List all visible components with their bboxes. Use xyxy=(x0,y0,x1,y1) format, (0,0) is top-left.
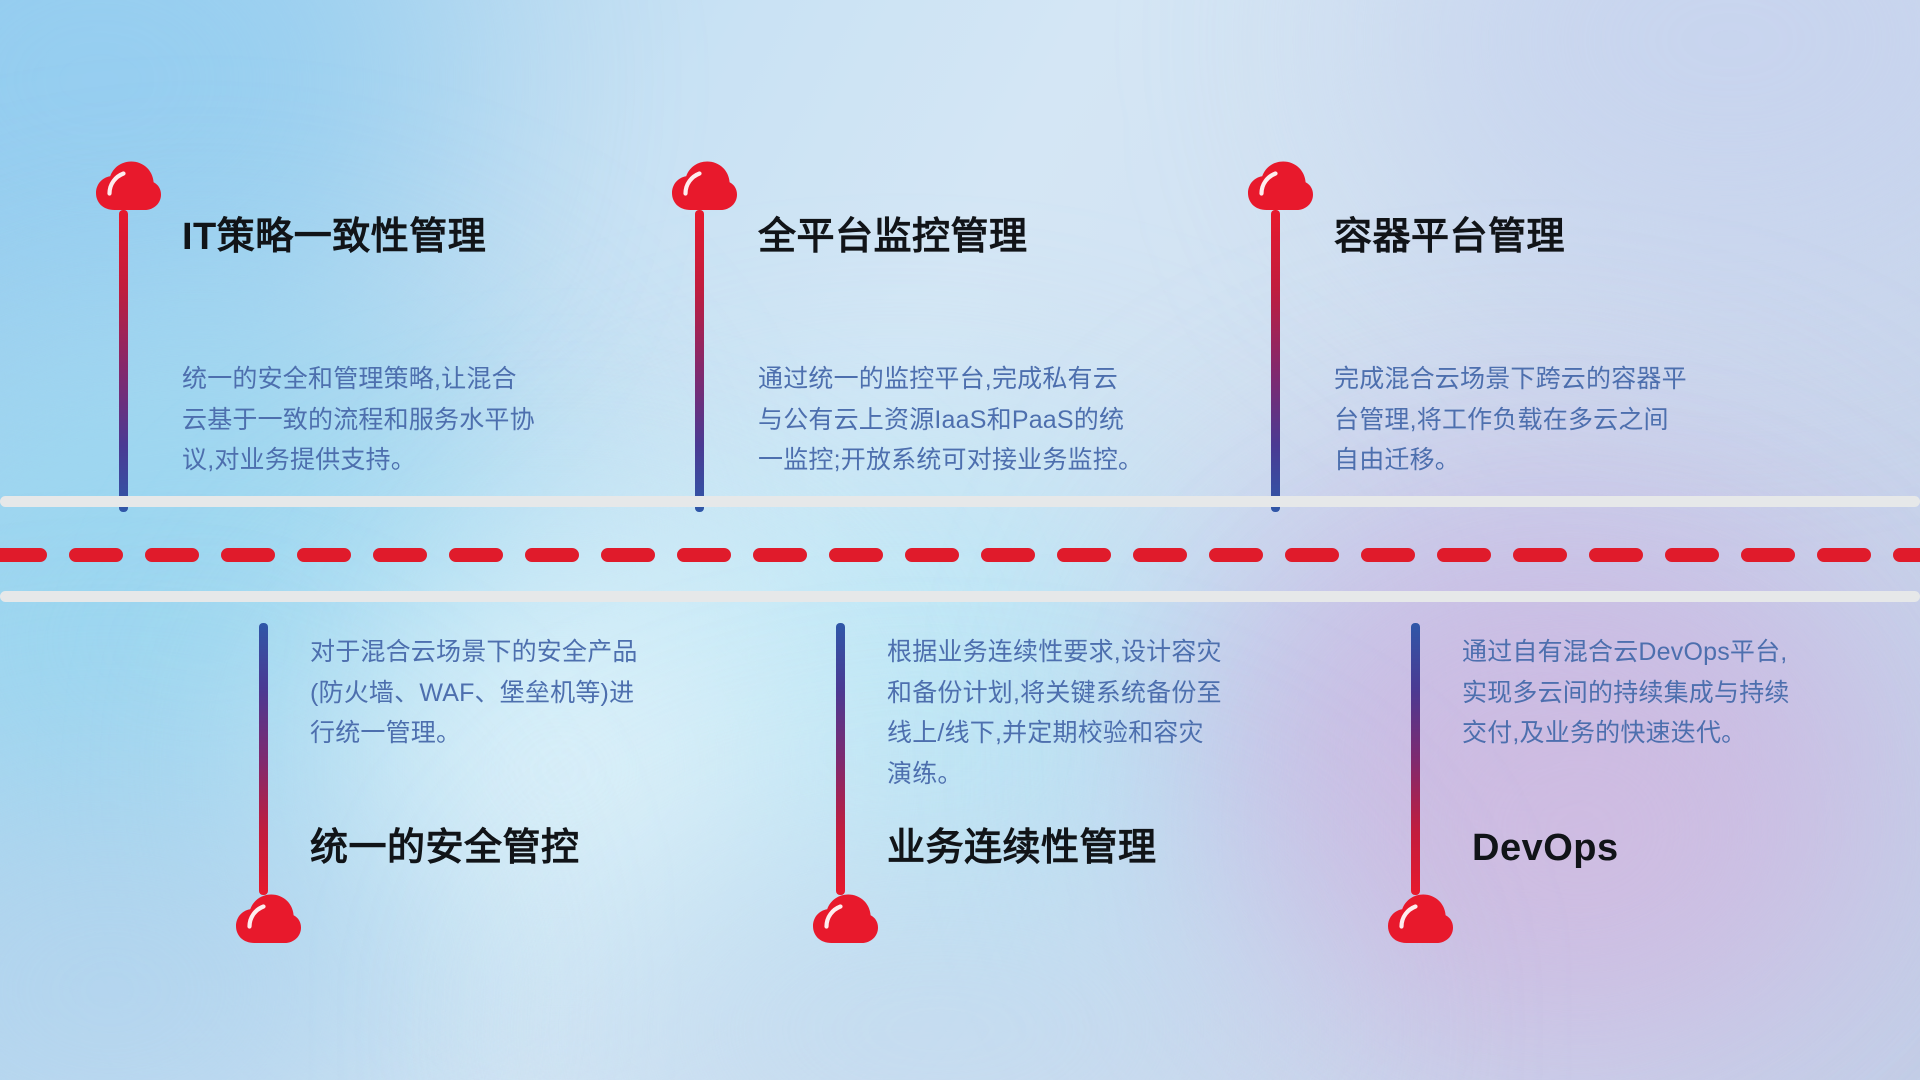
pin-stem xyxy=(1271,210,1280,512)
bottom-body-3: 通过自有混合云DevOps平台, 实现多云间的持续集成与持续 交付,及业务的快速… xyxy=(1462,632,1912,754)
divider-dashed-line xyxy=(0,548,1920,562)
bottom-body-1: 对于混合云场景下的安全产品 (防火墙、WAF、堡垒机等)进 行统一管理。 xyxy=(310,632,760,754)
top-heading-1: IT策略一致性管理 xyxy=(182,215,486,261)
infographic-canvas: IT策略一致性管理 统一的安全和管理策略,让混合 云基于一致的流程和服务水平协 … xyxy=(0,0,1920,1080)
top-heading-2: 全平台监控管理 xyxy=(758,215,1028,261)
top-heading-3: 容器平台管理 xyxy=(1334,215,1565,261)
cloud-icon xyxy=(234,893,302,945)
background-blob-bottom-left xyxy=(0,760,420,1080)
divider-rail-bottom xyxy=(0,591,1920,602)
pin-stem xyxy=(836,623,845,895)
pin-stem xyxy=(119,210,128,512)
cloud-icon xyxy=(670,160,738,212)
background-blob-white xyxy=(300,560,820,980)
top-body-2: 通过统一的监控平台,完成私有云 与公有云上资源IaaS和PaaS的统 一监控;开… xyxy=(758,359,1228,481)
bottom-heading-2: 业务连续性管理 xyxy=(887,826,1157,872)
pin-stem xyxy=(695,210,704,512)
top-body-3: 完成混合云场景下跨云的容器平 台管理,将工作负载在多云之间 自由迁移。 xyxy=(1334,359,1784,481)
cloud-icon xyxy=(1386,893,1454,945)
bottom-body-2: 根据业务连续性要求,设计容灾 和备份计划,将关键系统备份至 线上/线下,并定期校… xyxy=(887,632,1337,794)
top-body-1: 统一的安全和管理策略,让混合 云基于一致的流程和服务水平协 议,对业务提供支持。 xyxy=(182,359,632,481)
pin-stem xyxy=(1411,623,1420,895)
bottom-heading-1: 统一的安全管控 xyxy=(310,826,580,872)
cloud-icon xyxy=(811,893,879,945)
cloud-icon xyxy=(1246,160,1314,212)
divider-rail-top xyxy=(0,496,1920,507)
bottom-heading-3: DevOps xyxy=(1472,826,1619,872)
cloud-icon xyxy=(94,160,162,212)
background-blob-top-left xyxy=(0,0,440,360)
pin-stem xyxy=(259,623,268,895)
